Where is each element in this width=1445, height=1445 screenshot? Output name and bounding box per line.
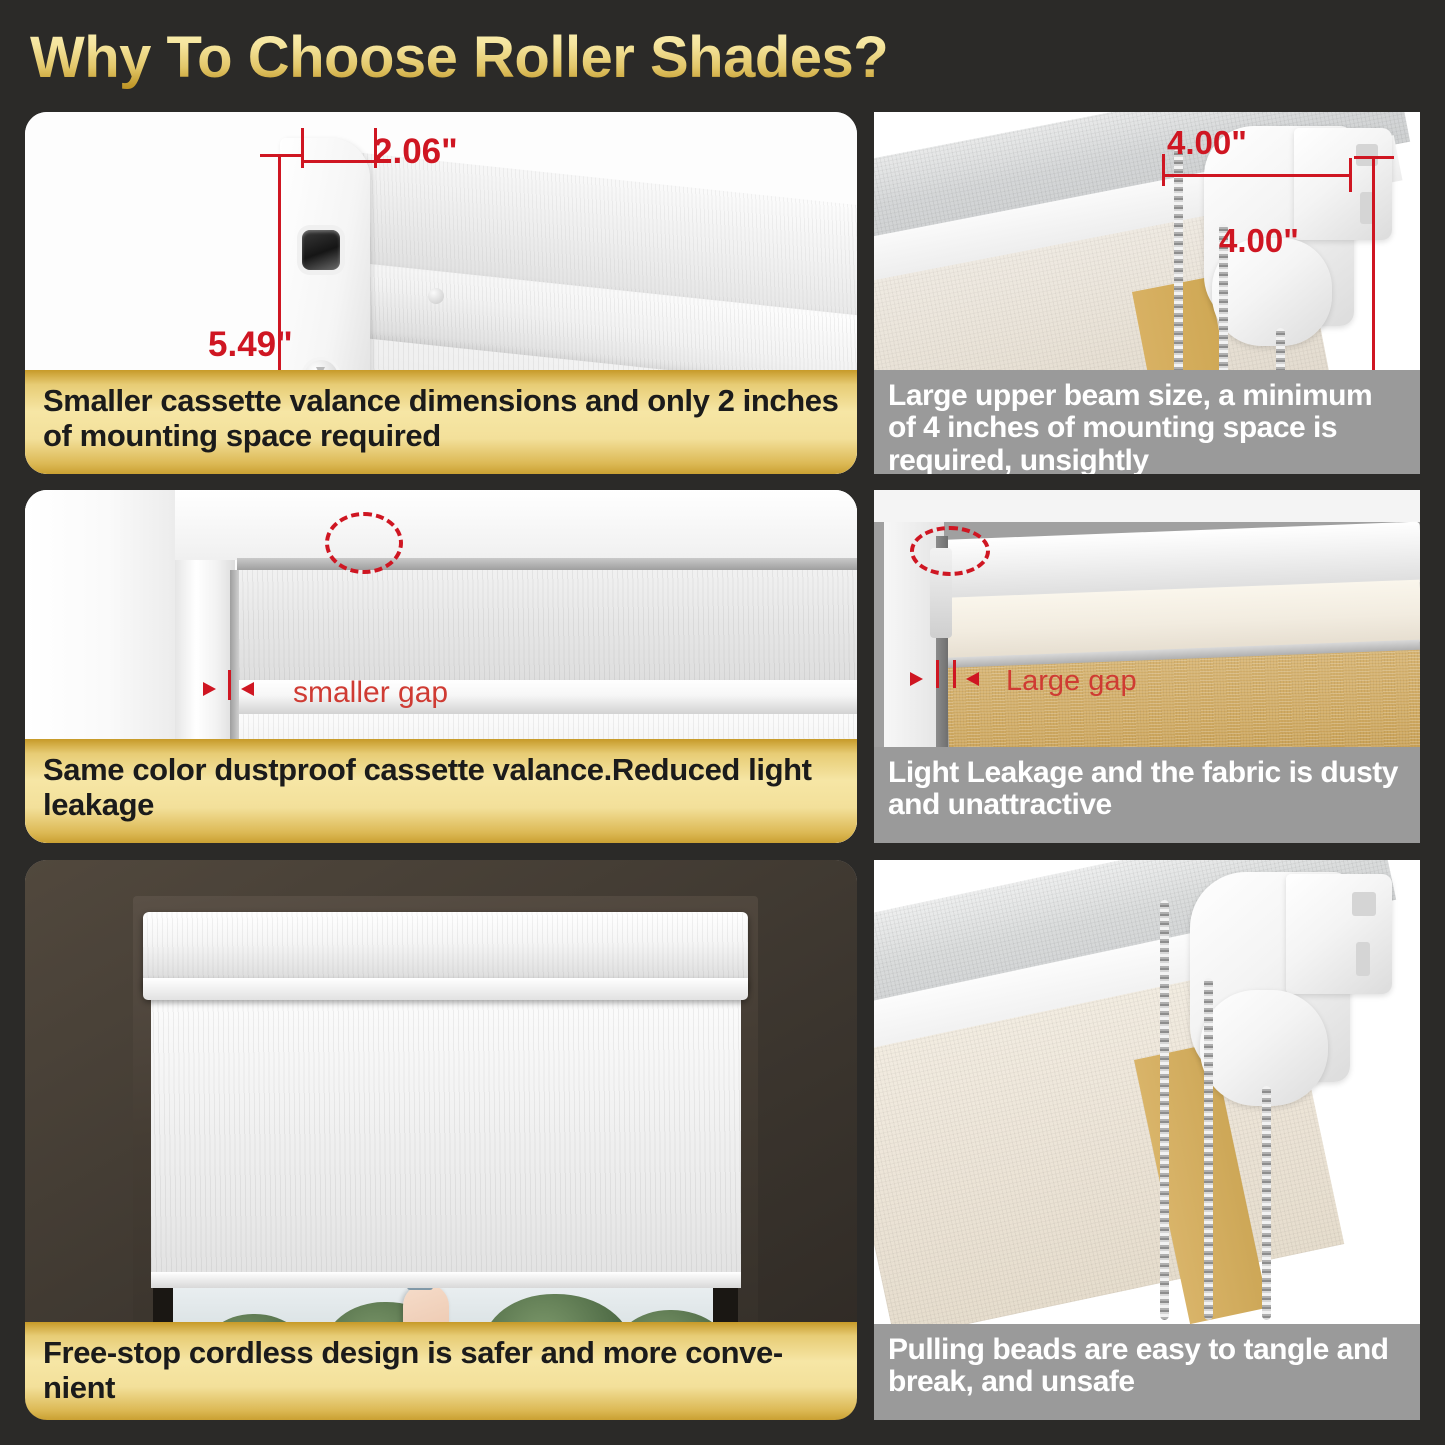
bead-chain-middle [1204,978,1213,1320]
bead-chain-left [1160,900,1169,1320]
panel-dustproof-valance: smaller gap Same color dustproof cassett… [25,490,857,843]
shade-bracket-plate [1286,874,1392,994]
bead-chain-right [1262,1086,1271,1320]
bracket-notch-lower [1360,192,1374,224]
panel-3-caption: Same color dustproof cassette valance.Re… [25,739,857,843]
panel-5-caption: Free-stop cordless design is safer and m… [25,1322,857,1420]
panel-large-upper-beam: 4.00" 4.00" Large upper beam size, a min… [874,112,1420,474]
bracket-notch-upper [1356,144,1378,166]
page-title: Why To Choose Roller Shades? [30,22,1030,94]
shade-head-rail [237,558,857,570]
panel-2-caption: Large upper beam size, a minimum of 4 in… [874,370,1420,474]
panel-smaller-cassette: 2.06" 5.49" Smaller cassette valance dim… [25,112,857,474]
panel-pulling-beads: Pulling beads are easy to tangle and bre… [874,860,1420,1420]
panel-cordless-design: Free-stop cordless design is safer and m… [25,860,857,1420]
shade-bottom-rail [151,1272,741,1288]
panel-6-caption: Pulling beads are easy to tangle and bre… [874,1324,1420,1420]
window-frame-top [175,490,857,560]
beam-bracket-plate [1294,128,1392,240]
valance-lip [143,978,748,1000]
infographic-page: Why To Choose Roller Shades? 2.06" [0,0,1445,1445]
valance-slot [302,230,340,270]
panel-1-caption: Smaller cassette valance dimensions and … [25,370,857,474]
panel-4-caption: Light Leakage and the fabric is dusty an… [874,747,1420,843]
panel-light-leakage: Large gap Light Leakage and the fabric i… [874,490,1420,843]
beam-bracket-lobe [1212,238,1332,346]
wall-strip-top [874,490,1420,522]
bracket-notch-lower [1356,942,1370,976]
bracket-notch-upper [1352,892,1376,916]
shade-fabric [151,998,741,1278]
shade-mid-rail [239,680,857,714]
highlight-circle-icon [910,526,990,576]
shade-fabric-upper [239,570,857,682]
highlight-circle-icon [325,512,403,574]
valance-small-screw [428,288,444,304]
